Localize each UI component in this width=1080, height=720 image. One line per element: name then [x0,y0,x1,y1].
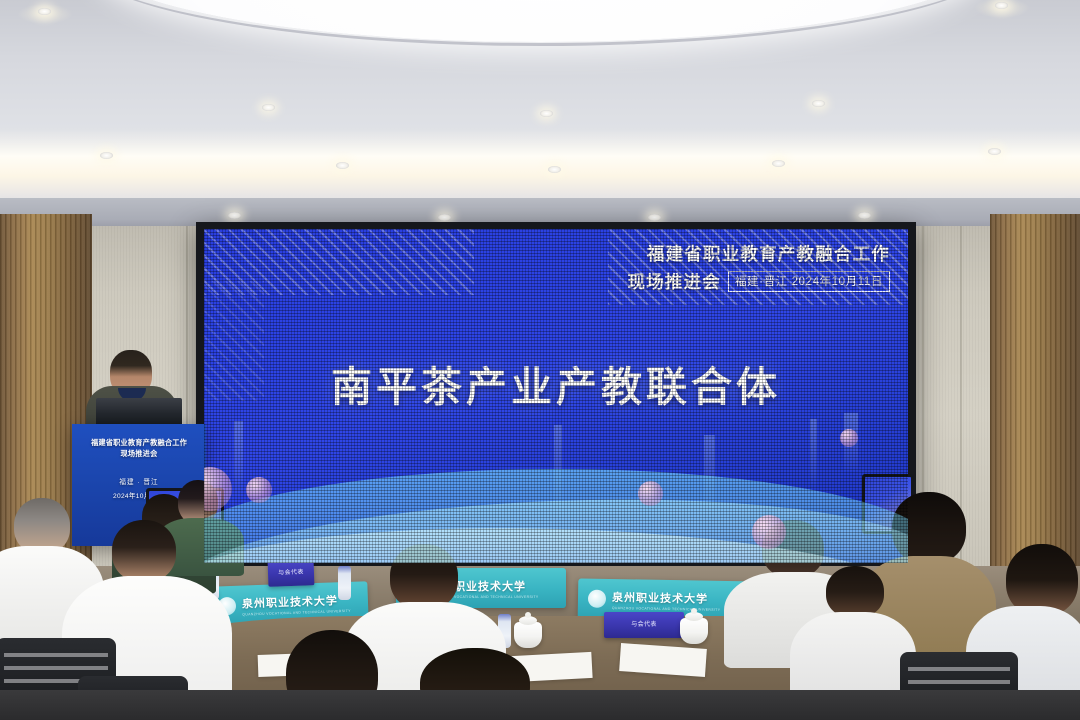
conference-hall-photo: 福建省职业教育产教融合工作 现场推进会 福建·晋江 2024年10月11日 南平… [0,0,1080,720]
soffit-downlight-icon [858,212,871,219]
attendee-head [112,520,176,582]
decorative-sphere [246,477,272,503]
screen-header: 福建省职业教育产教融合工作 现场推进会 福建·晋江 2024年10月11日 [627,241,890,294]
teacup [680,618,708,644]
teacup [514,622,542,648]
decorative-sphere [752,515,786,549]
downlight-icon [988,148,1001,155]
downlight-icon [336,162,349,169]
downlight-icon [548,166,561,173]
table-skirt-label: 泉州职业技术大学 [242,595,338,610]
downlight-icon [540,110,553,117]
downlight-icon [772,160,785,167]
downlight-icon [100,152,113,159]
podium-line2: 现场推进会 [72,449,206,459]
tower-silhouette [810,419,817,489]
soffit-downlight-icon [228,212,241,219]
ceiling-dome-rim [75,0,1005,46]
screen-date-badge: 福建·晋江 2024年10月11日 [728,271,890,292]
led-screen-frame: 福建省职业教育产教融合工作 现场推进会 福建·晋江 2024年10月11日 南平… [196,222,916,570]
downlight-icon [812,100,825,107]
downlight-icon [995,2,1008,9]
downlight-icon [38,8,51,15]
decorative-sphere [204,467,232,511]
decorative-sphere [638,481,663,506]
screen-header-line1: 福建省职业教育产教融合工作 [627,241,890,266]
water-bottle [338,566,351,600]
nameplate: 与会代表 [604,612,684,638]
nameplate-label: 与会代表 [604,619,684,628]
nameplate: 与会代表 [268,559,315,587]
attendee-head [826,566,884,618]
downlight-icon [262,104,275,111]
university-logo-icon [588,590,606,608]
screen-main-title: 南平茶产业产教联合体 [204,353,908,413]
soffit-downlight-icon [438,214,451,221]
floor [0,690,1080,720]
podium-line1: 福建省职业教育产教融合工作 [72,438,206,448]
tower-silhouette [234,421,243,497]
document-paper [619,643,707,677]
decorative-sphere [840,429,858,447]
nameplate-label: 与会代表 [268,566,314,577]
screen-header-line2: 现场推进会 [627,269,721,294]
soffit-downlight-icon [648,214,661,221]
table-skirt-label: 泉州职业技术大学 [612,592,708,606]
led-screen: 福建省职业教育产教融合工作 现场推进会 福建·晋江 2024年10月11日 南平… [204,229,908,563]
